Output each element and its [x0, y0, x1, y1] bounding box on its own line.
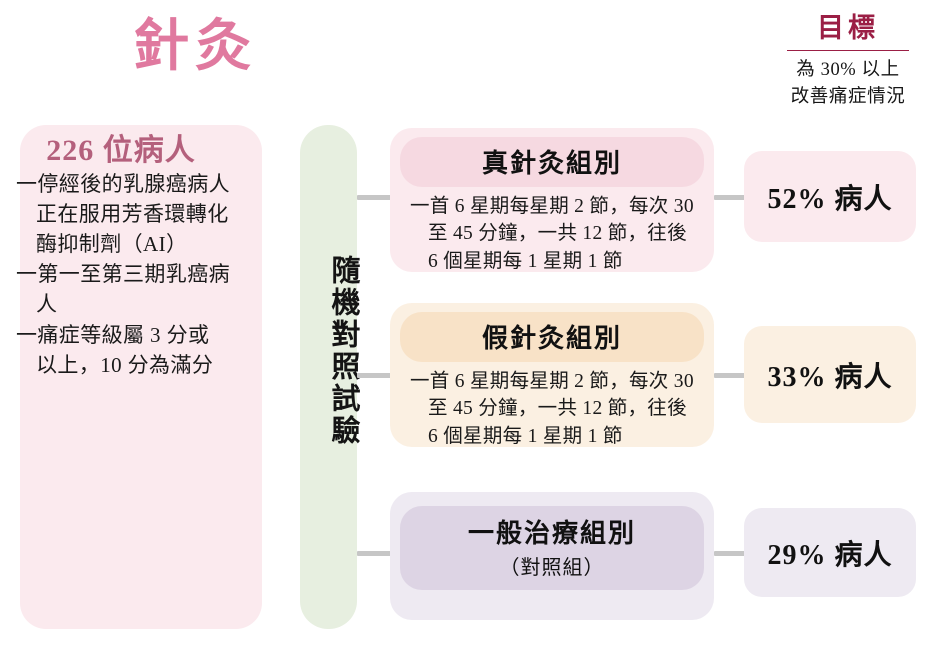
goal-block: 目標 為 30% 以上 改善痛症情況: [756, 12, 940, 110]
connector-method-group-3: [357, 551, 391, 556]
list-item: 一第一至第三期乳癌病人: [16, 260, 230, 320]
list-item: 一停經後的乳腺癌病人正在服用芳香環轉化酶抑制劑（AI）: [16, 170, 230, 259]
group-card-2: 假針灸組別 一首 6 星期每星期 2 節，每次 30 至 45 分鐘，一共 12…: [390, 303, 714, 447]
infographic-canvas: 針灸 目標 為 30% 以上 改善痛症情況 226 位病人 一停經後的乳腺癌病人…: [0, 0, 945, 652]
participants-heading: 226 位病人: [0, 125, 242, 169]
result-value: 29% 病人: [767, 533, 892, 573]
group-card-1: 真針灸組別 一首 6 星期每星期 2 節，每次 30 至 45 分鐘，一共 12…: [390, 128, 714, 272]
connector-method-group-2: [357, 373, 391, 378]
goal-line-1: 為 30% 以上: [756, 57, 940, 83]
result-box-3: 29% 病人: [744, 508, 916, 597]
method-label: 隨機對照試驗: [300, 255, 357, 447]
group-card-3-subtitle: （對照組）: [400, 551, 704, 580]
group-card-3-name: 一般治療組別: [468, 519, 636, 548]
group-card-3-title: 一般治療組別 （對照組）: [400, 506, 704, 590]
result-value: 52% 病人: [767, 177, 892, 217]
result-value: 33% 病人: [767, 355, 892, 395]
goal-line-2: 改善痛症情況: [756, 84, 940, 110]
result-box-2: 33% 病人: [744, 326, 916, 423]
list-item: 一痛症等級屬 3 分或以上，10 分為滿分: [16, 321, 230, 381]
connector-group-1-result-1: [714, 195, 745, 200]
group-card-2-detail: 一首 6 星期每星期 2 節，每次 30 至 45 分鐘，一共 12 節，往後 …: [390, 362, 714, 463]
group-card-3: 一般治療組別 （對照組）: [390, 492, 714, 620]
connector-method-group-1: [357, 195, 391, 200]
group-card-1-title: 真針灸組別: [400, 137, 704, 187]
page-title: 針灸: [75, 18, 315, 77]
connector-group-2-result-2: [714, 373, 745, 378]
group-detail-text: 一首 6 星期每星期 2 節，每次 30 至 45 分鐘，一共 12 節，往後 …: [410, 368, 698, 450]
result-box-1: 52% 病人: [744, 151, 916, 242]
participants-list: 一停經後的乳腺癌病人正在服用芳香環轉化酶抑制劑（AI） 一第一至第三期乳癌病人 …: [16, 170, 230, 382]
goal-heading: 目標: [756, 12, 940, 46]
group-card-1-detail: 一首 6 星期每星期 2 節，每次 30 至 45 分鐘，一共 12 節，往後 …: [390, 187, 714, 288]
connector-group-3-result-3: [714, 551, 745, 556]
group-card-2-title: 假針灸組別: [400, 312, 704, 362]
goal-divider: [787, 50, 909, 52]
group-detail-text: 一首 6 星期每星期 2 節，每次 30 至 45 分鐘，一共 12 節，往後 …: [410, 193, 698, 275]
